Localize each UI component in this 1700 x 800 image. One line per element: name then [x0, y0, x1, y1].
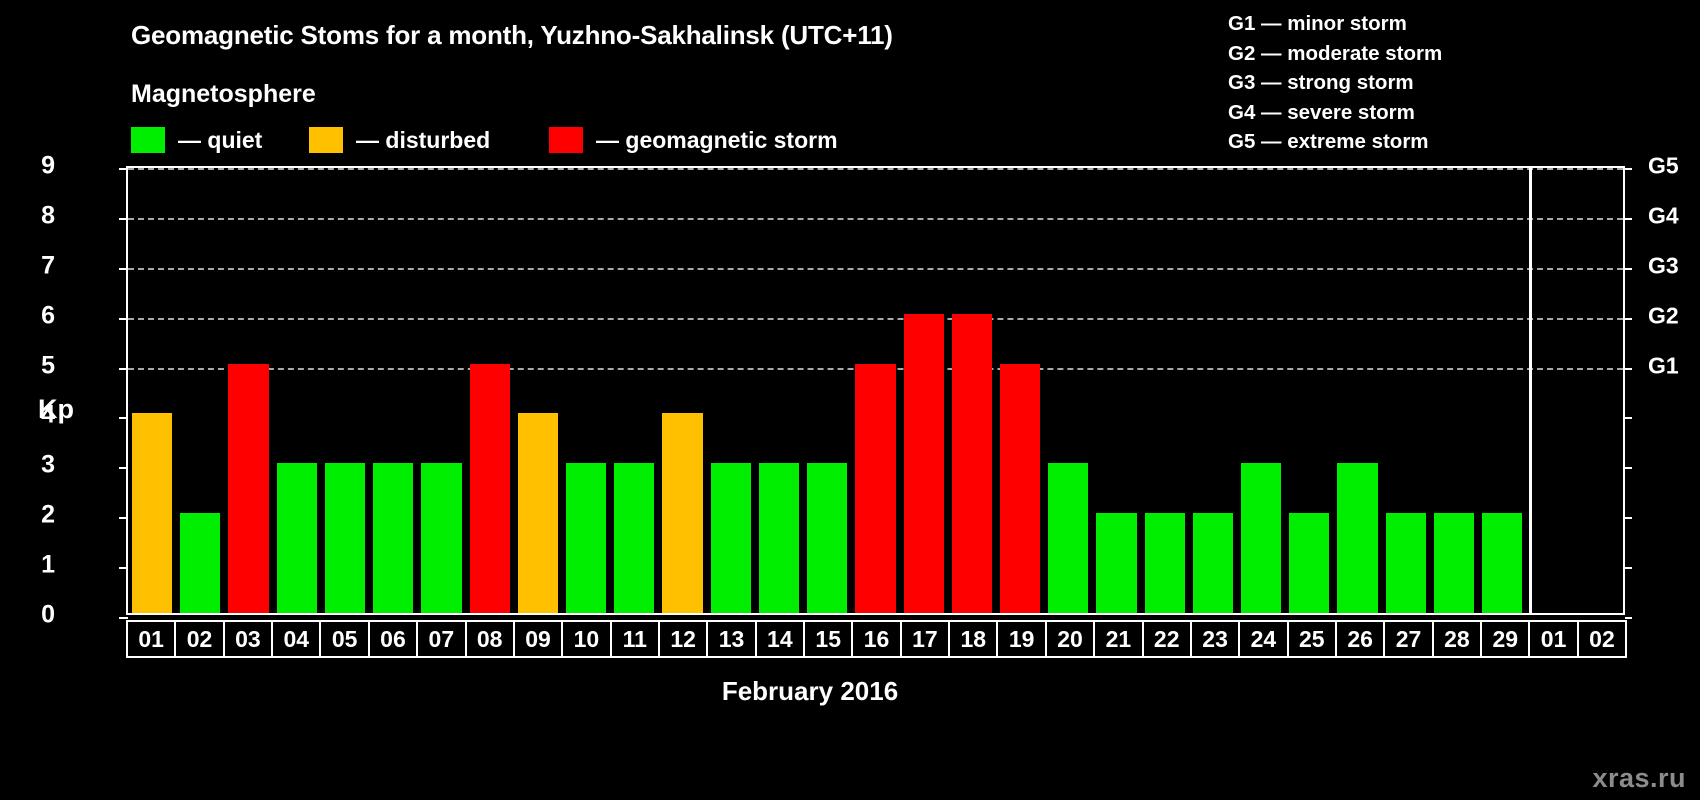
y-axis-label-8: 8	[15, 201, 55, 230]
bar-day-07[interactable]	[421, 463, 461, 613]
bar-day-15[interactable]	[807, 463, 847, 613]
g-axis-label-G1: G1	[1648, 352, 1679, 379]
bar-cell	[321, 168, 369, 613]
legend: — quiet — disturbed — geomagnetic storm	[131, 125, 838, 155]
bar-cell	[707, 168, 755, 613]
y-axis-label-3: 3	[15, 451, 55, 480]
day-label-02[interactable]: 02	[1577, 620, 1627, 658]
bar-cell	[1382, 168, 1430, 613]
bar-cell	[176, 168, 224, 613]
y-axis-label-1: 1	[15, 551, 55, 580]
day-label-26[interactable]: 26	[1335, 620, 1385, 658]
legend-item-disturbed: — disturbed	[309, 125, 549, 155]
g-axis-label-G3: G3	[1648, 252, 1679, 279]
g-tick-minor-2	[1625, 517, 1632, 519]
day-label-17[interactable]: 17	[900, 620, 950, 658]
bar-cell	[1575, 168, 1623, 613]
day-label-16[interactable]: 16	[851, 620, 901, 658]
day-label-19[interactable]: 19	[996, 620, 1046, 658]
gscale-key-g1: G1 — minor storm	[1228, 9, 1442, 39]
day-label-15[interactable]: 15	[803, 620, 853, 658]
bar-day-26[interactable]	[1337, 463, 1377, 613]
y-tick-6	[119, 318, 128, 320]
day-label-04[interactable]: 04	[271, 620, 321, 658]
bar-cell	[851, 168, 899, 613]
bar-day-09[interactable]	[518, 413, 558, 613]
magnetosphere-heading: Magnetosphere	[131, 80, 316, 109]
y-axis-label-0: 0	[15, 601, 55, 630]
month-divider	[1529, 168, 1532, 613]
bar-cell	[948, 168, 996, 613]
gscale-key-g5: G5 — extreme storm	[1228, 127, 1442, 157]
g-tick-G2	[1623, 318, 1632, 320]
bar-day-16[interactable]	[855, 364, 895, 613]
bar-day-11[interactable]	[614, 463, 654, 613]
bar-cell	[658, 168, 706, 613]
day-label-02[interactable]: 02	[174, 620, 224, 658]
day-label-24[interactable]: 24	[1238, 620, 1288, 658]
y-tick-8	[119, 218, 128, 220]
day-label-12[interactable]: 12	[658, 620, 708, 658]
day-label-06[interactable]: 06	[368, 620, 418, 658]
bar-day-14[interactable]	[759, 463, 799, 613]
y-axis-label-7: 7	[15, 251, 55, 280]
g-tick-G5	[1623, 168, 1632, 170]
bar-cell	[514, 168, 562, 613]
bar-cell	[466, 168, 514, 613]
bar-day-05[interactable]	[325, 463, 365, 613]
bar-day-29[interactable]	[1482, 513, 1522, 613]
x-axis-day-labels: 0102030405060708091011121314151617181920…	[126, 620, 1625, 658]
legend-item-quiet: — quiet	[131, 125, 309, 155]
bar-cell	[755, 168, 803, 613]
bar-cell	[1430, 168, 1478, 613]
bar-day-19[interactable]	[1000, 364, 1040, 613]
day-label-05[interactable]: 05	[319, 620, 369, 658]
day-label-08[interactable]: 08	[465, 620, 515, 658]
bar-day-27[interactable]	[1386, 513, 1426, 613]
y-tick-9	[119, 168, 128, 170]
day-label-07[interactable]: 07	[416, 620, 466, 658]
day-label-20[interactable]: 20	[1045, 620, 1095, 658]
y-tick-2	[119, 517, 128, 519]
bar-cell	[1285, 168, 1333, 613]
bar-day-01[interactable]	[132, 413, 172, 613]
y-axis-label-4: 4	[15, 401, 55, 430]
bar-day-18[interactable]	[952, 314, 992, 613]
bar-cell	[562, 168, 610, 613]
bar-cell	[1044, 168, 1092, 613]
bar-day-22[interactable]	[1145, 513, 1185, 613]
day-label-27[interactable]: 27	[1383, 620, 1433, 658]
bar-cell	[224, 168, 272, 613]
g-tick-minor-3	[1625, 467, 1632, 469]
bar-cell	[1092, 168, 1140, 613]
watermark: xras.ru	[1592, 763, 1686, 794]
bar-cell	[900, 168, 948, 613]
g-axis-label-G5: G5	[1648, 153, 1679, 180]
bar-day-12[interactable]	[662, 413, 702, 613]
page-title: Geomagnetic Stoms for a month, Yuzhno-Sa…	[131, 20, 893, 51]
g-tick-minor-0	[1625, 617, 1632, 619]
bar-day-10[interactable]	[566, 463, 606, 613]
gscale-key: G1 — minor storm G2 — moderate storm G3 …	[1228, 9, 1442, 157]
y-tick-1	[119, 567, 128, 569]
y-axis-label-6: 6	[15, 301, 55, 330]
bar-cell	[1189, 168, 1237, 613]
bar-cell	[273, 168, 321, 613]
bar-day-20[interactable]	[1048, 463, 1088, 613]
bar-series	[128, 168, 1623, 613]
bar-day-28[interactable]	[1434, 513, 1474, 613]
day-label-25[interactable]: 25	[1287, 620, 1337, 658]
bar-day-17[interactable]	[904, 314, 944, 613]
bar-day-13[interactable]	[711, 463, 751, 613]
g-tick-minor-1	[1625, 567, 1632, 569]
day-label-28[interactable]: 28	[1432, 620, 1482, 658]
legend-label-disturbed: — disturbed	[356, 127, 490, 154]
y-tick-0	[119, 617, 128, 619]
bar-cell	[417, 168, 465, 613]
g-tick-G4	[1623, 218, 1632, 220]
day-label-14[interactable]: 14	[755, 620, 805, 658]
bar-cell	[803, 168, 851, 613]
bar-day-25[interactable]	[1289, 513, 1329, 613]
bar-cell	[369, 168, 417, 613]
plot-area	[126, 166, 1625, 615]
g-tick-minor-4	[1625, 417, 1632, 419]
bar-day-02[interactable]	[180, 513, 220, 613]
gscale-key-g2: G2 — moderate storm	[1228, 39, 1442, 69]
day-label-23[interactable]: 23	[1190, 620, 1240, 658]
day-label-22[interactable]: 22	[1142, 620, 1192, 658]
day-label-01[interactable]: 01	[126, 620, 176, 658]
bar-day-21[interactable]	[1096, 513, 1136, 613]
bar-cell	[1237, 168, 1285, 613]
y-tick-3	[119, 467, 128, 469]
y-axis-label-2: 2	[15, 501, 55, 530]
bar-day-03[interactable]	[228, 364, 268, 613]
day-label-03[interactable]: 03	[223, 620, 273, 658]
x-axis-title-text: February 2016	[722, 676, 898, 707]
day-label-11[interactable]: 11	[610, 620, 660, 658]
y-tick-7	[119, 268, 128, 270]
bar-cell	[1333, 168, 1381, 613]
x-axis-title: February 2016	[0, 676, 1700, 707]
y-tick-4	[119, 417, 128, 419]
bar-cell	[128, 168, 176, 613]
day-label-13[interactable]: 13	[706, 620, 756, 658]
bar-cell	[1141, 168, 1189, 613]
gscale-key-g3: G3 — strong storm	[1228, 68, 1442, 98]
g-tick-G1	[1623, 368, 1632, 370]
y-axis-label-9: 9	[15, 152, 55, 181]
day-label-01[interactable]: 01	[1528, 620, 1578, 658]
bar-cell	[996, 168, 1044, 613]
day-label-29[interactable]: 29	[1480, 620, 1530, 658]
day-label-18[interactable]: 18	[948, 620, 998, 658]
bar-cell	[1526, 168, 1574, 613]
bar-cell	[1478, 168, 1526, 613]
legend-swatch-quiet	[131, 127, 165, 153]
bar-day-08[interactable]	[470, 364, 510, 613]
g-tick-G3	[1623, 268, 1632, 270]
y-tick-5	[119, 368, 128, 370]
bar-day-06[interactable]	[373, 463, 413, 613]
bar-day-23[interactable]	[1193, 513, 1233, 613]
day-label-21[interactable]: 21	[1093, 620, 1143, 658]
bar-day-24[interactable]	[1241, 463, 1281, 613]
day-label-10[interactable]: 10	[561, 620, 611, 658]
g-axis-label-G4: G4	[1648, 202, 1679, 229]
legend-swatch-storm	[549, 127, 583, 153]
bar-day-04[interactable]	[277, 463, 317, 613]
legend-swatch-disturbed	[309, 127, 343, 153]
legend-label-storm: — geomagnetic storm	[596, 127, 838, 154]
bar-cell	[610, 168, 658, 613]
legend-label-quiet: — quiet	[178, 127, 262, 154]
y-axis-label-5: 5	[15, 351, 55, 380]
g-axis-label-G2: G2	[1648, 302, 1679, 329]
day-label-09[interactable]: 09	[513, 620, 563, 658]
legend-item-storm: — geomagnetic storm	[549, 125, 838, 155]
gscale-key-g4: G4 — severe storm	[1228, 98, 1442, 128]
